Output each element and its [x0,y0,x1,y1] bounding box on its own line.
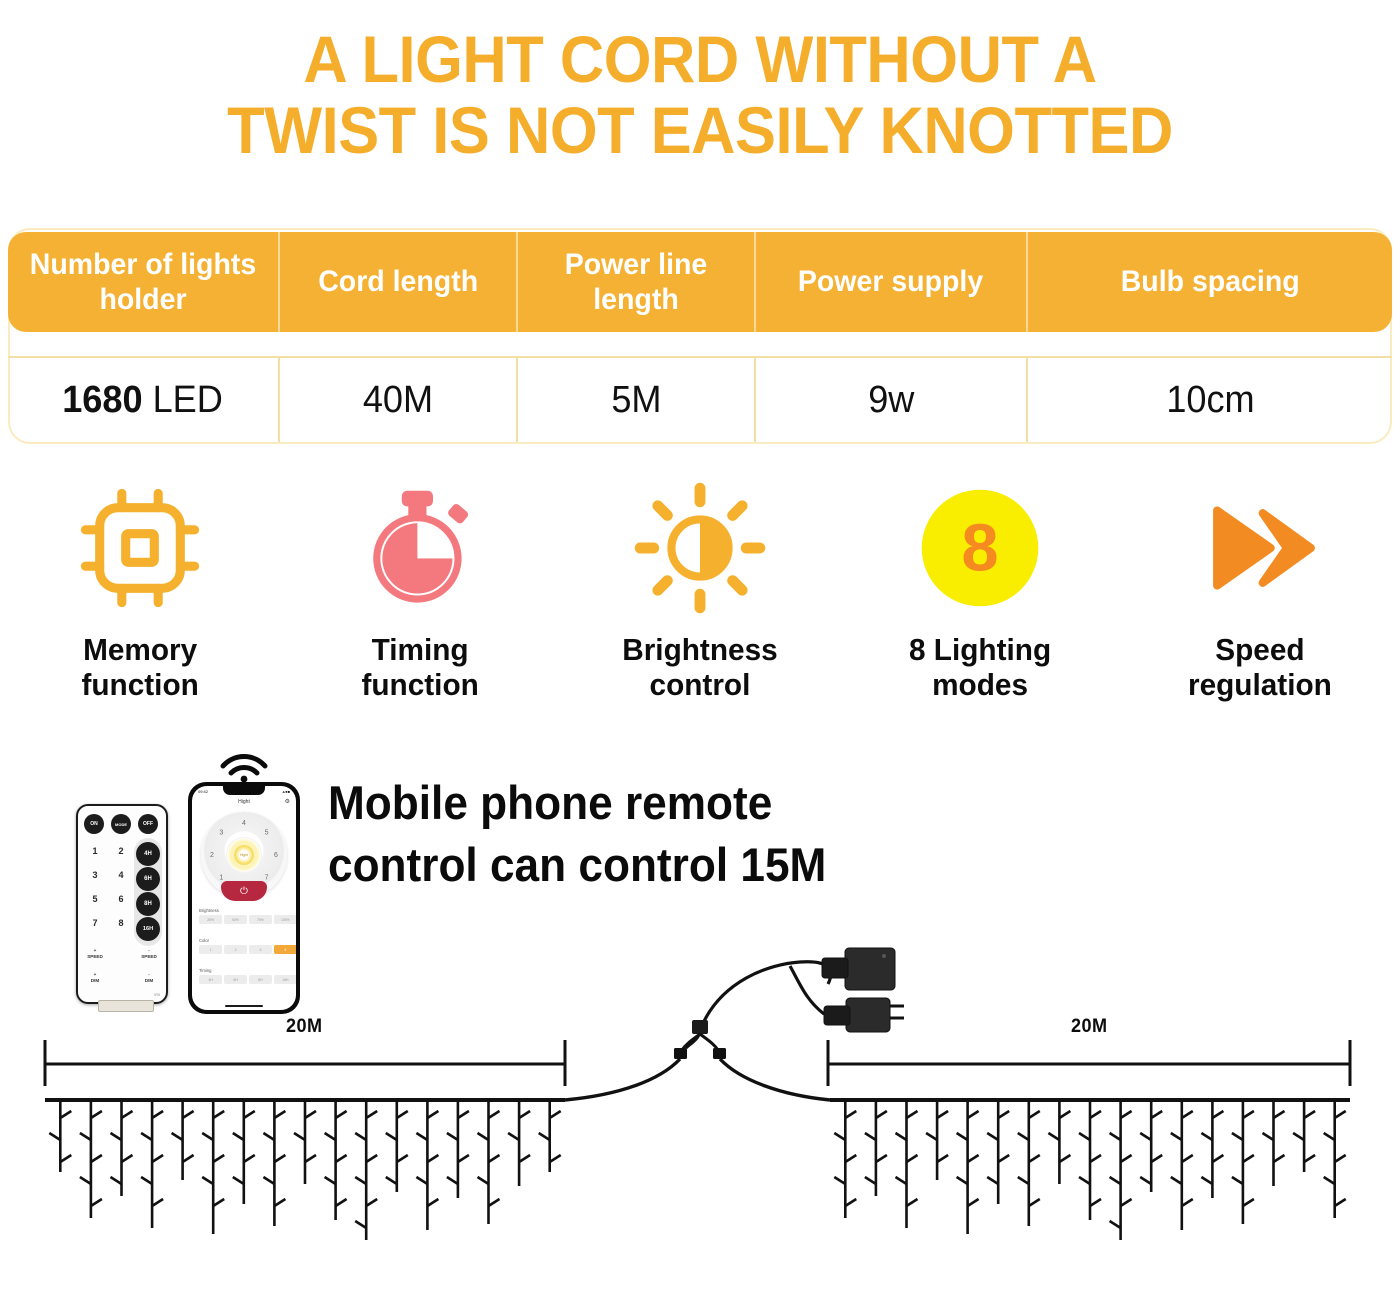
power-icon[interactable]: ⏻ [221,881,267,901]
dial-number-4[interactable]: 4 [239,818,250,829]
remote-number-5[interactable]: 5 [88,894,102,904]
infographic-page: A LIGHT CORD WITHOUT A TWIST IS NOT EASI… [0,0,1400,1300]
feature-caption: Speed regulation [1188,632,1332,703]
remote-number-1[interactable]: 1 [88,846,102,856]
status-icons: ⏶●■ [282,789,290,794]
mobile-remote-text: Mobile phone remote control can control … [328,772,930,896]
feature-lighting-modes: 8 8 Lighting modes [840,472,1120,724]
feature-timing-function: Timing function [280,472,560,724]
page-title: A LIGHT CORD WITHOUT A TWIST IS NOT EASI… [49,24,1351,167]
remote-number-6[interactable]: 6 [114,894,128,904]
remote-timer-6h[interactable]: 6H [136,867,160,891]
status-time: 09:42 [198,789,208,794]
feature-list: Memory function [0,472,1400,724]
spec-value-text: 40M [363,379,433,422]
dial-number-3[interactable]: 3 [216,827,227,838]
brightness-option[interactable]: 75% [249,915,272,924]
feature-caption: 8 Lighting modes [909,632,1051,703]
feature-speed-regulation: Speed regulation [1120,472,1400,724]
dial-number-2[interactable]: 2 [207,850,218,861]
mode-dial[interactable]: 1 2 3 4 5 6 7 8 Hight ⏻ [201,812,287,898]
product-dimension-diagram: 20M 20M [0,940,1400,1290]
spec-value-unit: LED [143,379,223,421]
spec-header-cell-bulb-spacing: Bulb spacing [1028,232,1392,332]
feature-brightness-control: Brightness control [560,472,840,724]
right-length-label: 20M [1071,1016,1108,1038]
spec-value-power-line-length: 5M [518,358,756,442]
dial-number-5[interactable]: 5 [261,827,272,838]
brightness-option[interactable]: 50% [224,915,247,924]
fast-forward-icon [1193,472,1327,624]
spec-header-cell-power-line-length: Power line length [518,232,756,332]
dial-hub: Hight [226,837,262,873]
brightness-icon [632,472,768,624]
remote-timer-8h[interactable]: 8H [136,892,160,916]
icicle-strands [49,1100,1345,1240]
remote-number-4[interactable]: 4 [114,870,128,880]
spec-value-text: 5M [611,379,661,422]
badge-number: 8 [961,511,998,586]
remote-number-2[interactable]: 2 [114,846,128,856]
spec-value-number: 1680 [63,379,143,421]
spec-header-label: Power line length [530,247,743,318]
spec-header-label: Power supply [798,264,983,299]
dimension-lines [45,1040,1350,1086]
spec-value-lights-holder: 1680 LED [8,358,280,442]
feature-caption: Memory function [81,632,198,703]
feature-memory-function: Memory function [0,472,280,724]
spec-value-cord-length: 40M [280,358,518,442]
app-title: Hight [192,799,296,805]
stopwatch-icon [355,472,485,624]
gear-icon[interactable]: ⚙ [285,798,290,805]
chip-icon [75,472,205,624]
spec-header-label: Cord length [318,264,478,299]
modes-badge-icon: 8 [918,472,1042,624]
brightness-option[interactable]: 100% [274,915,296,924]
diagram-svg [0,940,1400,1290]
remote-number-7[interactable]: 7 [88,918,102,928]
spec-header-cell-cord-length: Cord length [280,232,518,332]
remote-button-on[interactable]: ON [84,814,104,834]
spec-header-label: Number of lights holder [20,247,265,318]
remote-timer-16h[interactable]: 16H [136,917,160,941]
bulb-icon: Hight [234,845,254,865]
remote-button-off[interactable]: OFF [138,814,158,834]
brightness-row: Brightness 25% 50% 75% 100% [199,908,296,924]
spec-value-text: 10cm [1166,379,1254,422]
brightness-label: Brightness [199,908,296,913]
spec-value-power-supply: 9w [756,358,1028,442]
power-adapter-group [700,948,904,1032]
remote-timer-4h[interactable]: 4H [136,842,160,866]
spec-table-header-row: Number of lights holder Cord length Powe… [8,232,1392,332]
dial-number-6[interactable]: 6 [271,850,282,861]
spec-value-text: 9w [868,379,914,422]
feature-caption: Brightness control [622,632,777,703]
feature-caption: Timing function [361,632,478,703]
brightness-buttons[interactable]: 25% 50% 75% 100% [199,915,296,924]
spec-header-label: Bulb spacing [1121,264,1300,299]
spec-table-value-row: 1680 LED 40M 5M 9w 10cm [8,356,1392,442]
phone-status-bar: 09:42 ⏶●■ [192,787,296,795]
remote-button-mode[interactable]: MODE [111,814,131,834]
spec-header-cell-lights-holder: Number of lights holder [8,232,280,332]
spec-value-bulb-spacing: 10cm [1028,358,1392,442]
remote-number-8[interactable]: 8 [114,918,128,928]
brightness-option[interactable]: 25% [199,915,222,924]
spec-header-cell-power-supply: Power supply [756,232,1028,332]
wifi-icon [214,752,274,782]
left-length-label: 20M [286,1016,323,1038]
cable-junction-group [565,1020,830,1100]
remote-number-3[interactable]: 3 [88,870,102,880]
